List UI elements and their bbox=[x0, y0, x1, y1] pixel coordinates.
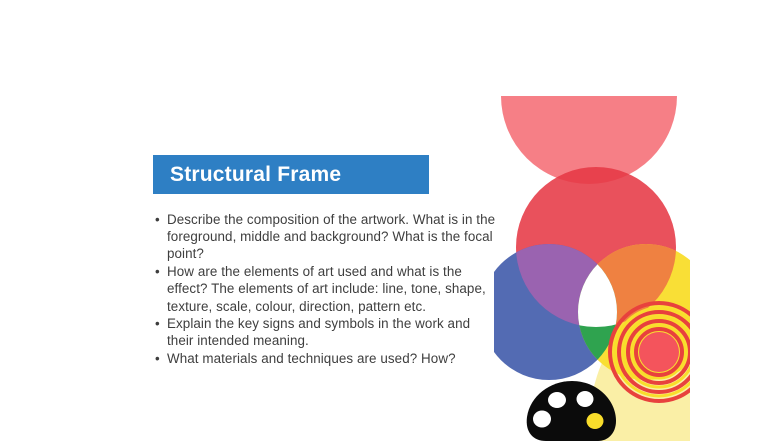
bullet-text-3: Explain the key signs and symbols in the… bbox=[167, 316, 470, 348]
colour-theory-illustration bbox=[494, 0, 690, 441]
bullet-dot-icon: • bbox=[155, 211, 160, 228]
bullet-dot-icon: • bbox=[155, 350, 160, 367]
bullet-item-3: • Explain the key signs and symbols in t… bbox=[153, 315, 498, 349]
slide-title-text: Structural Frame bbox=[170, 164, 341, 185]
bullet-dot-icon: • bbox=[155, 315, 160, 332]
bullet-item-4: • What materials and techniques are used… bbox=[153, 350, 498, 367]
bullet-text-4: What materials and techniques are used? … bbox=[167, 351, 456, 366]
bullet-item-2: • How are the elements of art used and w… bbox=[153, 263, 498, 315]
presentation-slide: Structural Frame • Describe the composit… bbox=[0, 0, 784, 441]
slide-bullet-list: • Describe the composition of the artwor… bbox=[153, 211, 498, 368]
slide-title-banner: Structural Frame bbox=[153, 155, 429, 194]
bullet-text-2: How are the elements of art used and wha… bbox=[167, 264, 486, 313]
ring-core bbox=[639, 332, 679, 372]
bullet-item-1: • Describe the composition of the artwor… bbox=[153, 211, 498, 263]
bullet-dot-icon: • bbox=[155, 263, 160, 280]
bullet-text-1: Describe the composition of the artwork.… bbox=[167, 212, 495, 261]
